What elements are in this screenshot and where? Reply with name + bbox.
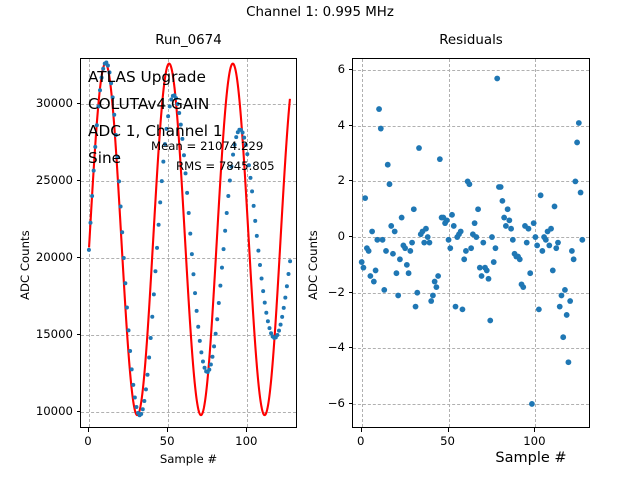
residual-marker [414,290,420,296]
sample-marker [144,387,148,391]
residual-marker [564,312,570,318]
y-tick-label: 2 [292,173,345,187]
residual-marker [533,234,539,240]
sample-marker [187,211,191,215]
annotation-line-3: ADC 1, Channel 1 [88,124,223,139]
residual-marker [406,270,412,276]
residual-marker [367,273,373,279]
residual-marker [536,306,542,312]
sample-marker [248,176,252,180]
residual-marker [494,76,500,82]
sample-marker [147,355,151,359]
sample-marker [146,373,150,377]
y-tick-label: 20000 [20,250,73,264]
residual-marker [397,256,403,262]
y-tick-label: 30000 [20,96,73,110]
residual-marker [538,192,544,198]
residual-marker [531,220,537,226]
sample-marker [193,291,197,295]
residual-marker [394,270,400,276]
sample-marker [228,178,232,182]
sample-marker [90,194,94,198]
right-panel-title: Residuals [352,33,590,48]
residual-marker [526,226,532,232]
y-tick-label: 10000 [20,404,73,418]
residual-marker [361,265,367,271]
right-plot-axes[interactable] [352,58,590,428]
residual-marker [569,248,575,254]
residual-marker [527,270,533,276]
sample-marker [188,232,192,236]
residual-marker [510,237,516,243]
sample-marker [263,301,267,305]
sample-marker [282,306,286,310]
residual-marker [376,106,382,112]
sample-marker [166,114,170,118]
y-tick-mark [349,125,353,126]
sample-marker [198,339,202,343]
sample-marker [288,259,292,263]
left-panel-xlabel: Sample # [80,452,297,466]
sample-marker [275,333,279,337]
residual-marker [374,237,380,243]
residual-marker [560,334,566,340]
y-tick-mark [349,403,353,404]
y-tick-mark [77,334,81,335]
sample-marker [225,211,229,215]
residual-marker [359,259,365,265]
residual-marker [500,198,506,204]
y-tick-label: −6 [292,396,345,410]
y-tick-mark [349,180,353,181]
x-tick-mark [448,428,449,432]
residual-marker [458,229,464,235]
sample-marker [214,332,218,336]
x-tick-mark [534,428,535,432]
residual-marker [484,268,490,274]
residual-marker [506,217,512,223]
left-panel-title: Run_0674 [80,33,297,48]
residual-marker [416,145,422,151]
residual-marker [447,245,453,251]
sample-marker [106,63,110,67]
residual-marker [578,190,584,196]
residual-marker [369,229,375,235]
sample-marker [142,399,146,403]
sample-marker [260,277,264,281]
residual-marker [546,242,552,248]
residual-marker [486,276,492,282]
residual-marker [390,251,396,257]
residual-marker [552,204,558,210]
residual-marker [451,223,457,229]
residual-marker-group [359,76,585,407]
residual-marker [576,120,582,126]
residual-marker [413,304,419,310]
sample-marker [283,296,287,300]
annotation-line-4: Sine [88,151,121,166]
y-tick-label: 0 [292,229,345,243]
sample-marker [231,153,235,157]
residual-marker [371,279,377,285]
y-tick-label: 25000 [20,173,73,187]
y-tick-label: −2 [292,285,345,299]
residual-marker [444,217,450,223]
residual-marker [428,298,434,304]
sample-marker [87,248,91,252]
sample-marker [223,229,227,233]
sample-marker [127,328,131,332]
sample-marker [217,301,221,305]
sample-marker [160,179,164,183]
residual-marker [411,206,417,212]
sample-marker [215,317,219,321]
residual-marker [437,156,443,162]
y-tick-label: −4 [292,340,345,354]
residual-marker [460,306,466,312]
residual-marker [472,220,478,226]
y-tick-mark [77,180,81,181]
residual-marker [446,237,452,243]
x-tick-label: 0 [357,434,364,448]
left-plot-canvas [81,59,296,427]
y-tick-label: 6 [292,62,345,76]
figure-suptitle: Channel 1: 0.995 MHz [0,5,640,20]
sample-marker [150,315,154,319]
residual-marker [553,245,559,251]
sample-marker [210,355,214,359]
sample-marker [92,169,96,173]
sample-marker [203,366,207,370]
residual-marker [572,179,578,185]
sample-marker [141,407,145,411]
y-tick-mark [349,292,353,293]
residual-marker [453,304,459,310]
sample-marker [252,204,256,208]
residual-marker [555,240,561,246]
residual-marker [402,245,408,251]
residual-marker [463,248,469,254]
sample-marker [226,194,230,198]
residual-marker [539,248,545,254]
sample-marker [201,359,205,363]
residual-marker [505,206,511,212]
residual-marker [362,195,368,201]
sample-marker [185,191,189,195]
residual-marker [430,293,436,299]
sample-marker [123,281,127,285]
residual-marker [524,240,530,246]
sample-marker [128,349,132,353]
left-plot-axes[interactable] [80,58,297,428]
residual-marker [557,304,563,310]
y-tick-mark [349,236,353,237]
residual-marker [387,181,393,187]
residual-marker [468,245,474,251]
residual-marker [574,140,580,146]
residual-marker [381,287,387,293]
residual-marker [517,256,523,262]
sample-marker [277,329,281,333]
sample-marker [130,367,134,371]
sample-marker [258,263,262,267]
right-plot-data [353,59,589,427]
sample-marker [218,284,222,288]
sample-marker [209,363,213,367]
sample-marker [98,88,102,92]
sample-marker [89,221,93,225]
residual-marker [466,181,472,187]
sample-marker [255,234,259,238]
residual-marker [543,237,549,243]
x-tick-mark [167,428,168,432]
residual-marker [373,268,379,274]
sample-marker [264,311,268,315]
sample-marker [182,153,186,157]
residual-marker [550,268,556,274]
residual-marker [566,359,572,365]
residual-marker [425,234,431,240]
y-tick-mark [349,347,353,348]
sample-marker [212,344,216,348]
sample-marker [157,223,161,227]
residual-marker [508,226,514,232]
sample-marker [222,247,226,251]
annotation-line-1: ATLAS Upgrade [88,70,206,85]
y-tick-label: 15000 [20,327,73,341]
sample-marker [125,306,129,310]
residual-marker [562,287,568,293]
residual-marker [559,293,565,299]
x-tick-label: 0 [84,434,91,448]
sample-marker [256,249,260,253]
residual-marker [479,273,485,279]
residual-marker [435,273,441,279]
sample-marker [287,272,291,276]
sample-marker [119,205,123,209]
sample-marker [153,269,157,273]
sample-marker [207,368,211,372]
residual-marker [503,223,509,229]
sample-marker [158,200,162,204]
sample-marker [196,325,200,329]
y-tick-mark [77,411,81,412]
sample-marker [112,113,116,117]
sample-marker [139,412,143,416]
right-panel-xlabel: Sample # [412,450,640,466]
x-tick-mark [246,428,247,432]
residual-marker [392,229,398,235]
sample-marker [133,396,137,400]
sample-marker [199,350,203,354]
sample-marker [279,323,283,327]
residual-marker [493,245,499,251]
residual-marker [423,226,429,232]
y-tick-label: 4 [292,118,345,132]
residual-marker [501,215,507,221]
y-tick-mark [77,103,81,104]
residual-marker [520,284,526,290]
sample-marker [253,219,257,223]
matplotlib-figure: Channel 1: 0.995 MHz Run_0674 ADC Counts… [0,0,640,480]
residual-marker [407,248,413,254]
residual-marker [529,401,535,407]
sample-marker [241,131,245,135]
sample-marker [285,284,289,288]
sample-marker [120,230,124,234]
sample-marker [267,326,271,330]
x-tick-label: 100 [523,434,545,448]
residual-marker [385,162,391,168]
x-tick-label: 100 [235,434,257,448]
residual-marker [366,248,372,254]
annotation-line-2: COLUTAv4 GAIN [88,97,209,112]
residual-marker [432,279,438,285]
residual-marker [383,248,389,254]
residual-marker [433,284,439,290]
residual-marker [404,262,410,268]
y-tick-mark [349,69,353,70]
sample-marker [250,189,254,193]
sample-marker [117,179,121,183]
sample-marker-group [87,61,292,418]
residual-marker [571,256,577,262]
residual-marker [380,237,386,243]
sample-marker [155,246,159,250]
annotation-rms: RMS = 7845.805 [176,161,275,173]
residual-marker [427,240,433,246]
left-panel-ylabel: ADC Counts [18,230,32,300]
residual-marker [534,242,540,248]
x-tick-mark [88,428,89,432]
sample-marker [161,160,165,164]
sample-marker [191,272,195,276]
residual-marker [548,226,554,232]
sample-marker [220,266,224,270]
sample-marker [266,319,270,323]
residual-marker [475,206,481,212]
residual-marker [489,234,495,240]
sample-marker [190,252,194,256]
x-tick-label: 50 [160,434,175,448]
annotation-mean: Mean = 21074.229 [151,141,263,153]
residual-marker [449,212,455,218]
right-plot-canvas [353,59,589,427]
left-plot-data [81,59,296,427]
residual-marker [409,240,415,246]
x-tick-mark [361,428,362,432]
y-tick-mark [77,257,81,258]
residual-marker [461,256,467,262]
residual-marker [378,126,384,132]
residual-marker [491,259,497,265]
sample-marker [152,292,156,296]
residual-marker [421,240,427,246]
residual-marker [388,223,394,229]
sample-marker [149,336,153,340]
residual-marker [477,265,483,271]
sample-marker [280,315,284,319]
sample-marker [195,309,199,313]
sample-marker [261,289,265,293]
sample-marker [131,383,135,387]
residual-marker [487,318,493,324]
residual-marker [480,240,486,246]
sample-marker [122,256,126,260]
residual-marker [395,293,401,299]
x-tick-label: 50 [440,434,455,448]
residual-marker [579,237,585,243]
residual-marker [498,184,504,190]
residual-marker [473,234,479,240]
residual-marker [567,298,573,304]
sample-marker [134,405,138,409]
residual-marker [399,215,405,221]
sine-fit-line [89,64,290,415]
